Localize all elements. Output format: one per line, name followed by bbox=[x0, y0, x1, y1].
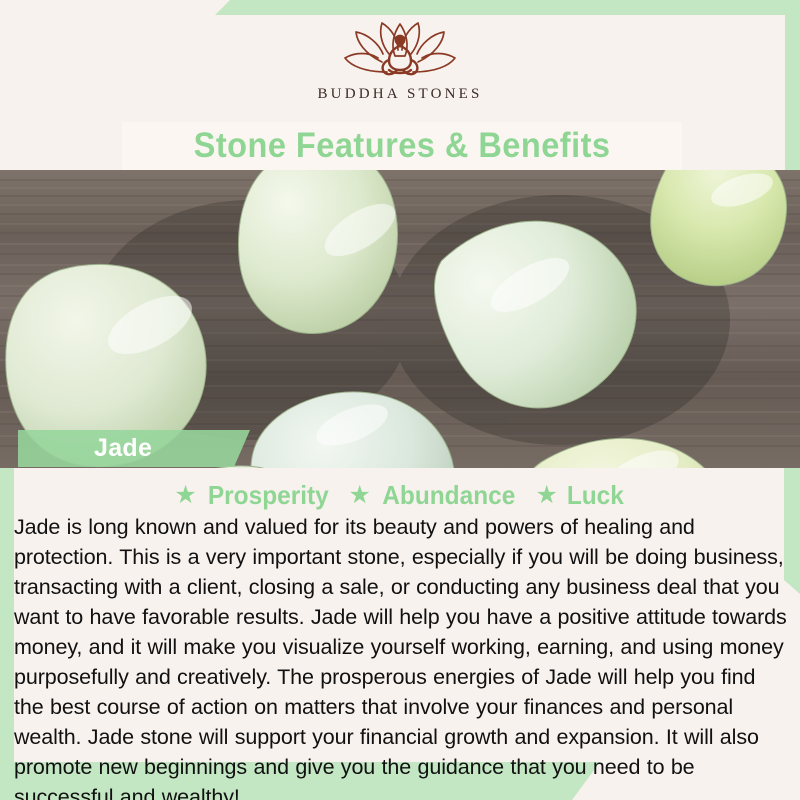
page-title: Stone Features & Benefits bbox=[194, 126, 611, 166]
benefit-label: Luck bbox=[567, 480, 624, 511]
benefit-item: ★ Luck bbox=[535, 480, 625, 511]
brand-header: BUDDHA STONES bbox=[0, 0, 800, 120]
benefit-label: Abundance bbox=[382, 480, 515, 511]
brand-name: BUDDHA STONES bbox=[317, 86, 482, 103]
stone-name-label: Jade bbox=[18, 434, 152, 463]
jade-stones-photo bbox=[0, 170, 800, 468]
star-icon: ★ bbox=[348, 483, 370, 508]
lotus-meditation-icon bbox=[325, 18, 475, 82]
benefit-item: ★ Abundance bbox=[348, 480, 519, 511]
star-icon: ★ bbox=[174, 483, 196, 508]
photo-illustration bbox=[0, 170, 800, 468]
stone-description: Jade is long known and valued for its be… bbox=[14, 512, 789, 800]
title-band: Stone Features & Benefits bbox=[122, 122, 682, 170]
benefit-item: ★ Prosperity bbox=[174, 480, 332, 511]
poster-root: BUDDHA STONES Stone Features & Benefits bbox=[0, 0, 800, 800]
benefits-row: ★ Prosperity ★ Abundance ★ Luck bbox=[0, 478, 800, 512]
star-icon: ★ bbox=[535, 483, 557, 508]
benefit-label: Prosperity bbox=[208, 480, 329, 511]
stone-name-badge: Jade bbox=[18, 430, 250, 467]
